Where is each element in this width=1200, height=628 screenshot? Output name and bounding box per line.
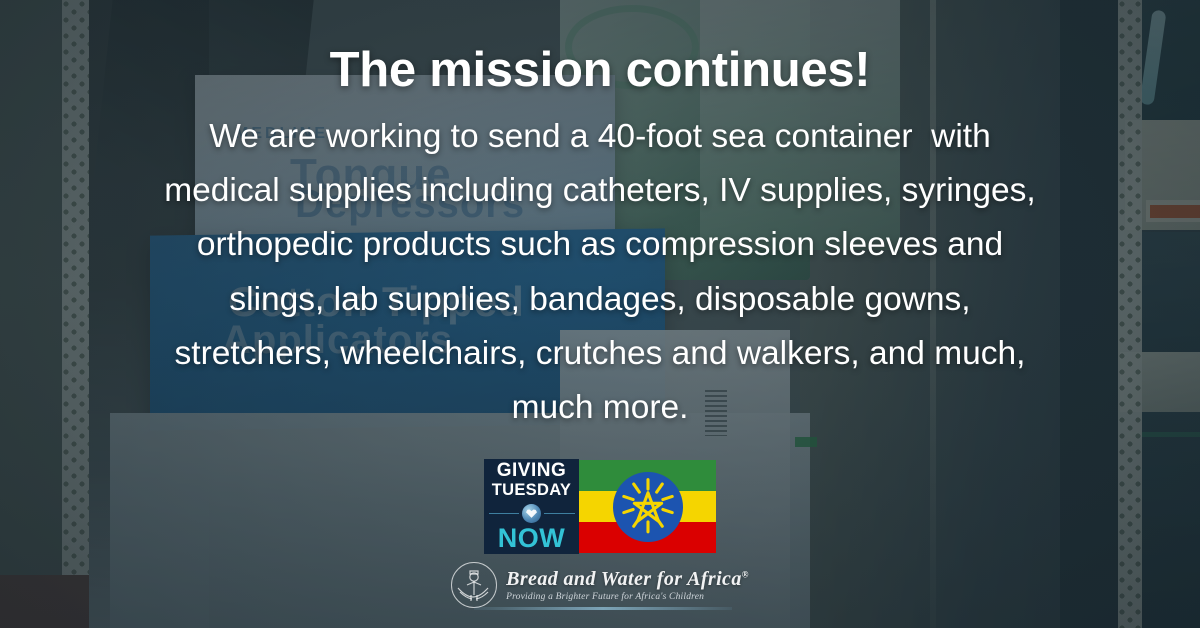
- page-title: The mission continues!: [330, 44, 871, 98]
- promotional-graphic: MEDLINE Tongue Depressors Cotton Tipped …: [0, 0, 1200, 628]
- bwa-emblem-icon: [451, 562, 497, 608]
- organization-name-text: Bread and Water for Africa: [506, 568, 742, 590]
- giving-tuesday-divider: [489, 504, 575, 523]
- giving-tuesday-line2: TUESDAY: [492, 480, 571, 501]
- bwa-underline-rule: [474, 607, 732, 610]
- organization-tagline: Providing a Brighter Future for Africa's…: [506, 592, 749, 602]
- organization-logo: Bread and Water for Africa® Providing a …: [0, 562, 1200, 608]
- bwa-text-block: Bread and Water for Africa® Providing a …: [506, 569, 749, 602]
- registered-mark: ®: [742, 569, 749, 579]
- organization-name: Bread and Water for Africa®: [506, 569, 749, 590]
- giving-tuesday-now-logo: GIVING TUESDAY NOW: [484, 459, 579, 554]
- divider-rule-left: [489, 513, 520, 514]
- flag-star-icon: [617, 476, 679, 538]
- ethiopia-flag-icon: [579, 460, 716, 553]
- body-paragraph: We are working to send a 40-foot sea con…: [150, 110, 1050, 436]
- flag-blue-disc: [613, 472, 683, 542]
- globe-heart-icon: [522, 504, 541, 523]
- divider-rule-right: [544, 513, 575, 514]
- logo-row: GIVING TUESDAY NOW: [0, 459, 1200, 554]
- giving-tuesday-line1: GIVING: [497, 461, 567, 480]
- giving-tuesday-line3: NOW: [498, 525, 565, 552]
